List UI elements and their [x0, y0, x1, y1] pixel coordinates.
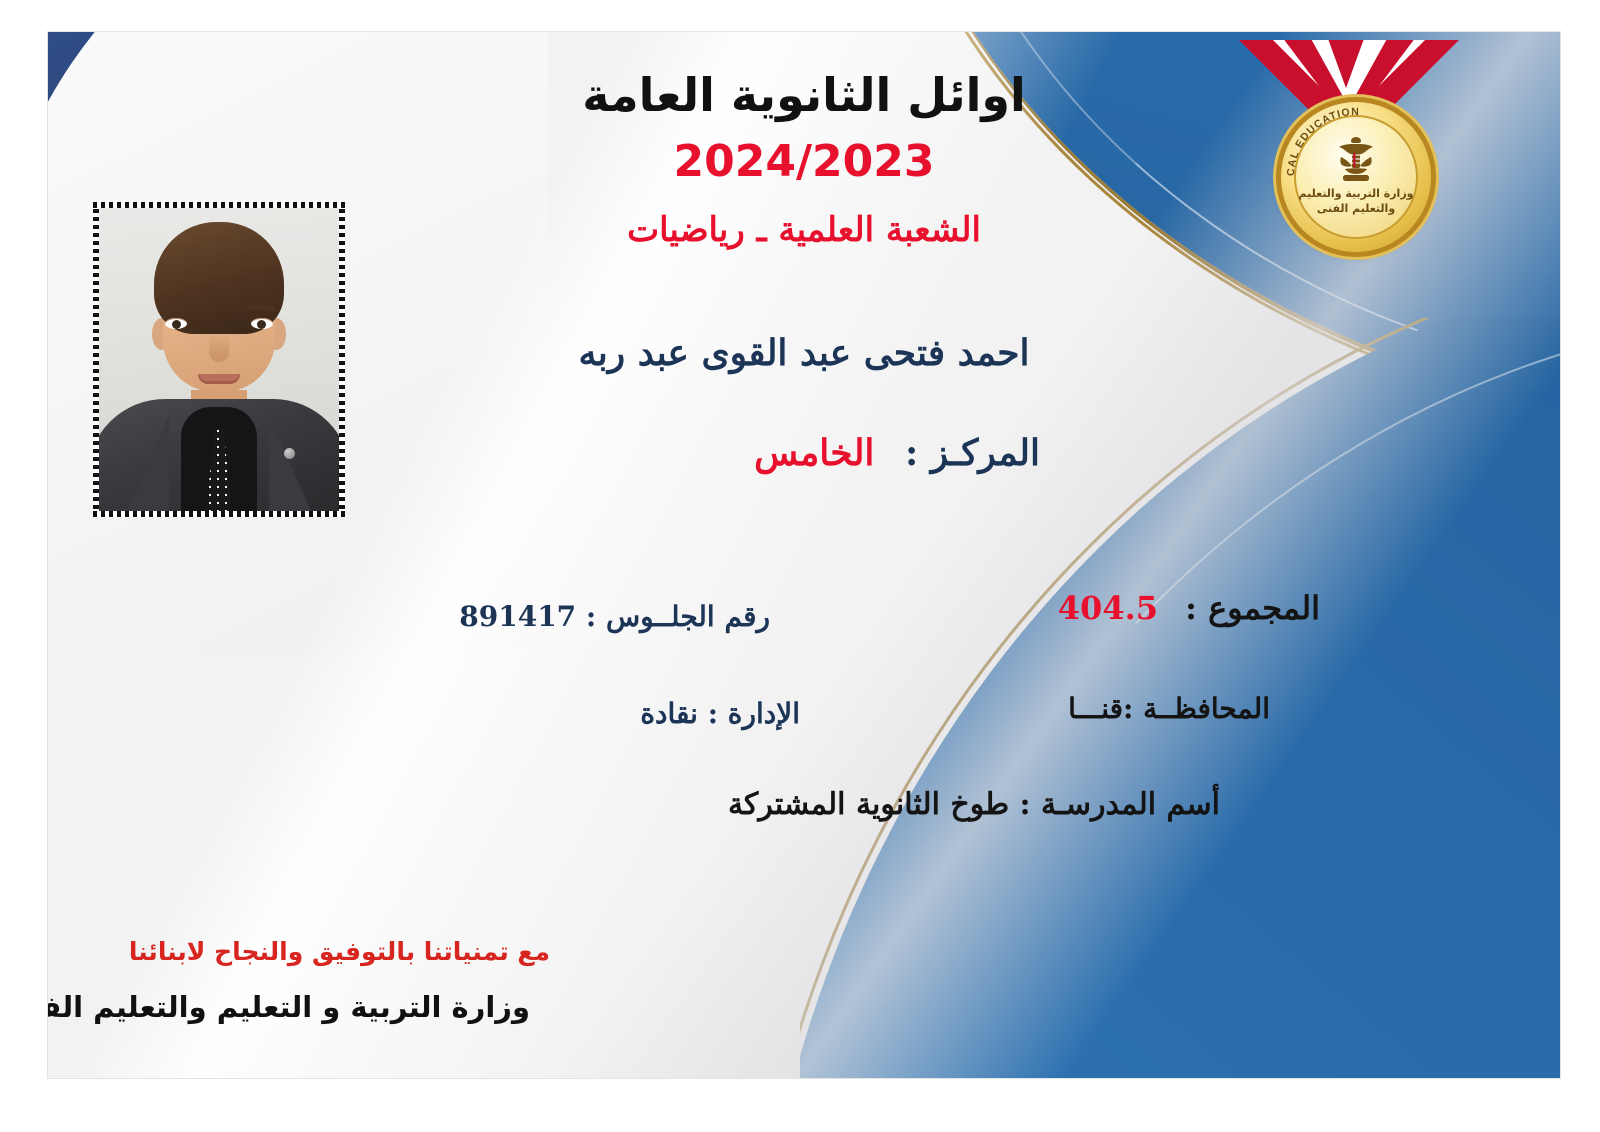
total-score-row: المجموع : 404.5 [1058, 589, 1320, 627]
total-label: المجموع : [1185, 589, 1320, 627]
administration-row: الإدارة : نقادة [640, 697, 800, 730]
page-title: اوائل الثانوية العامة [48, 68, 1560, 122]
governorate-row: المحافظــة :قنـــا [1068, 692, 1270, 725]
rank-row: المركـز : الخامس [754, 432, 1040, 474]
seat-number-row: رقم الجلــوس : 891417 [459, 600, 770, 633]
certificate-page: وزارة التربية والتعليم والتعليم الفنى MI… [0, 0, 1600, 1132]
rank-label: المركـز : [905, 432, 1040, 474]
student-name: احمد فتحى عبد القوى عبد ربه [48, 332, 1560, 374]
total-value: 404.5 [1058, 589, 1158, 627]
study-branch: الشعبة العلمية ـ رياضيات [48, 210, 1560, 250]
portrait-lapel-pin [284, 448, 295, 459]
portrait-pupil-left [172, 320, 181, 329]
certificate-card: وزارة التربية والتعليم والتعليم الفنى MI… [48, 32, 1560, 1078]
portrait-mouth [198, 374, 240, 384]
ministry-name: وزارة التربية و التعليم والتعليم الفنى [48, 990, 530, 1024]
rank-value: الخامس [754, 432, 874, 474]
school-name-row: أسم المدرسـة : طوخ الثانوية المشتركة [728, 787, 1220, 822]
academic-year: 2024/2023 [48, 136, 1560, 187]
portrait-pupil-right [257, 320, 266, 329]
wishes-text: مع تمنياتنا بالتوفيق والنجاح لابنائنا [129, 937, 550, 966]
